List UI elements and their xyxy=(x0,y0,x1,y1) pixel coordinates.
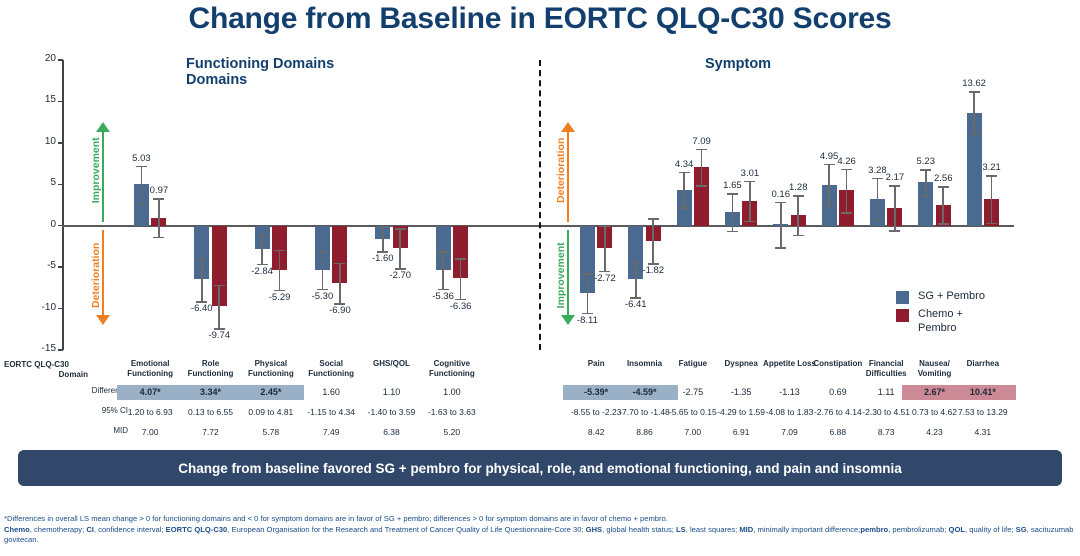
error-bar xyxy=(877,178,879,220)
arrow-label: Improvement xyxy=(555,228,567,323)
error-bar-cap xyxy=(727,193,738,195)
bar-value-label: -8.11 xyxy=(564,315,610,326)
y-tick-label: 20 xyxy=(24,53,56,64)
error-bar-cap xyxy=(196,259,207,261)
error-bar-cap xyxy=(986,175,997,177)
footnote-line-1: *Differences in overall LS mean change >… xyxy=(4,514,1076,525)
table-cell-difference: 3.34* xyxy=(178,385,244,400)
column-header-line2: Functioning xyxy=(415,369,489,379)
arrow-label: Deterioration xyxy=(90,228,102,323)
error-bar xyxy=(828,164,830,206)
bar-value-label: 5.23 xyxy=(903,156,949,167)
error-bar-cap xyxy=(969,135,980,137)
error-bar-cap xyxy=(455,258,466,260)
y-tick xyxy=(58,101,63,103)
bar-value-label: 13.62 xyxy=(951,78,997,89)
bar-value-label: -2.70 xyxy=(377,270,423,281)
column-header-line1: Cognitive xyxy=(415,359,489,369)
table-cell-mid: 4.31 xyxy=(946,426,1020,439)
error-bar-cap xyxy=(938,186,949,188)
error-bar-cap xyxy=(744,181,755,183)
table-cell-ci: 7.53 to 13.29 xyxy=(946,406,1020,419)
error-bar xyxy=(218,285,220,329)
data-table: EORTC QLQ-C30 Domain Difference 95% CI M… xyxy=(0,358,1080,442)
error-bar-cap xyxy=(599,226,610,228)
error-bar xyxy=(442,251,444,288)
table-cell-difference: 2.45* xyxy=(238,385,304,400)
bar-value-label: -6.90 xyxy=(317,305,363,316)
section-divider xyxy=(539,60,541,350)
table-cell-difference: 1.00 xyxy=(419,385,485,400)
page-title: Change from Baseline in EORTC QLQ-C30 Sc… xyxy=(0,2,1080,36)
arrow-stem xyxy=(567,230,569,316)
chart-plot-area: ImprovementDeteriorationDeteriorationImp… xyxy=(62,60,1014,350)
legend-item[interactable]: Chemo + Pembro xyxy=(896,308,992,335)
error-bar-cap xyxy=(872,220,883,222)
y-tick xyxy=(58,308,63,310)
bar-value-label: 0.97 xyxy=(136,185,182,196)
legend-swatch xyxy=(896,309,909,322)
error-bar xyxy=(780,202,782,248)
footnote-term: pembro xyxy=(860,525,888,534)
y-tick xyxy=(58,59,63,61)
footnote-text: , chemotherapy; xyxy=(30,525,87,534)
error-bar-cap xyxy=(889,230,900,232)
error-bar xyxy=(652,218,654,263)
error-bar-cap xyxy=(136,166,147,168)
error-bar-cap xyxy=(438,251,449,253)
error-bar-cap xyxy=(696,149,707,151)
error-bar xyxy=(846,169,848,213)
footnote-text: , pembrolizumab; xyxy=(888,525,948,534)
error-bar xyxy=(797,195,799,235)
column-header-line1: Diarrhea xyxy=(946,359,1020,369)
error-bar-cap xyxy=(727,231,738,233)
table-cell-ci: -1.63 to 3.63 xyxy=(415,406,489,419)
error-bar xyxy=(749,181,751,221)
error-bar-cap xyxy=(679,207,690,209)
error-bar xyxy=(894,185,896,230)
legend-swatch xyxy=(896,291,909,304)
error-bar-cap xyxy=(153,198,164,200)
error-bar-cap xyxy=(744,221,755,223)
bar-value-label: -1.82 xyxy=(630,265,676,276)
table-cell-mid: 5.20 xyxy=(415,426,489,439)
error-bar-cap xyxy=(214,285,225,287)
bar-value-label: 2.56 xyxy=(920,173,966,184)
table-column-header: CognitiveFunctioning xyxy=(415,359,489,379)
y-tick-label: -10 xyxy=(24,302,56,313)
error-bar-cap xyxy=(377,227,388,229)
bar-value-label: 7.09 xyxy=(679,136,725,147)
summary-banner: Change from baseline favored SG + pembro… xyxy=(18,450,1062,486)
bar-value-label: 5.03 xyxy=(118,153,164,164)
bar-value-label: -5.29 xyxy=(257,292,303,303)
footnote-term: EORTC QLQ-C30 xyxy=(166,525,228,534)
error-bar-cap xyxy=(696,185,707,187)
footnote-term: QOL xyxy=(949,525,965,534)
error-bar-cap xyxy=(920,196,931,198)
error-bar xyxy=(991,175,993,223)
footnote-term: MID xyxy=(739,525,753,534)
column-header-line2: Functioning xyxy=(294,369,368,379)
y-tick-label: 5 xyxy=(24,177,56,188)
error-bar-cap xyxy=(630,261,641,263)
error-bar-cap xyxy=(775,247,786,249)
error-bar-cap xyxy=(775,202,786,204)
footnote-text: , European Organisation for the Research… xyxy=(227,525,585,534)
y-tick xyxy=(58,266,63,268)
bar-value-label: 3.01 xyxy=(727,168,773,179)
error-bar-cap xyxy=(334,263,345,265)
error-bar-cap xyxy=(793,235,804,237)
error-bar xyxy=(261,235,263,264)
error-bar xyxy=(141,166,143,203)
error-bar xyxy=(701,149,703,185)
bar-value-label: -9.74 xyxy=(196,330,242,341)
legend-item[interactable]: SG + Pembro xyxy=(896,290,992,304)
error-bar xyxy=(382,227,384,252)
bar-value-label: -2.72 xyxy=(582,273,628,284)
table-cell-difference: 1.10 xyxy=(359,385,425,400)
legend-label: SG + Pembro xyxy=(918,290,985,304)
error-bar-cap xyxy=(317,251,328,253)
error-bar-cap xyxy=(153,237,164,239)
error-bar-cap xyxy=(395,228,406,230)
error-bar-cap xyxy=(257,235,268,237)
error-bar xyxy=(732,193,734,230)
error-bar xyxy=(973,91,975,135)
error-bar xyxy=(339,263,341,304)
footnote-text: , quality of life; xyxy=(965,525,1016,534)
table-cell-difference: 1.60 xyxy=(298,385,364,400)
error-bar xyxy=(201,259,203,301)
table-cell-difference: 4.07* xyxy=(117,385,183,400)
bar-value-label: 1.28 xyxy=(775,182,821,193)
arrow-stem xyxy=(102,230,104,316)
error-bar-cap xyxy=(824,206,835,208)
error-bar-cap xyxy=(793,195,804,197)
y-tick-label: 0 xyxy=(24,219,56,230)
bar-value-label: 4.26 xyxy=(824,156,870,167)
chart-legend: SG + PembroChemo + Pembro xyxy=(896,290,992,339)
arrow-stem xyxy=(567,131,569,221)
column-header-line2: Vomiting xyxy=(898,369,972,379)
y-tick-label: 15 xyxy=(24,94,56,105)
error-bar-cap xyxy=(679,172,690,174)
y-axis-line xyxy=(62,60,64,350)
footnote-term: GHS xyxy=(586,525,602,534)
error-bar xyxy=(399,228,401,268)
error-bar-cap xyxy=(274,250,285,252)
bar-value-label: 2.17 xyxy=(872,172,918,183)
table-corner-label-line1: EORTC QLQ-C30 xyxy=(4,360,88,369)
error-bar xyxy=(279,250,281,290)
footnote-text: , least squares; xyxy=(686,525,740,534)
table-corner-label-line2: Domain xyxy=(4,370,88,379)
y-tick xyxy=(58,184,63,186)
footnote-text: , global health status; xyxy=(602,525,676,534)
error-bar xyxy=(322,251,324,289)
y-tick xyxy=(58,349,63,351)
footnote-term: Chemo xyxy=(4,525,30,534)
error-bar-cap xyxy=(889,185,900,187)
y-tick xyxy=(58,142,63,144)
error-bar-cap xyxy=(841,212,852,214)
section-heading-functioning: Functioning Domains Domains xyxy=(186,56,334,88)
footnote-term: CI xyxy=(86,525,94,534)
arrow-label: Deterioration xyxy=(555,120,567,219)
bar-value-label: 3.21 xyxy=(969,162,1015,173)
table-cell-difference: 10.41* xyxy=(950,385,1016,400)
footnote-line-2: Chemo, chemotherapy; CI, confidence inte… xyxy=(4,525,1076,546)
bar-value-label: -6.41 xyxy=(613,299,659,310)
error-bar xyxy=(604,226,606,271)
error-bar-cap xyxy=(920,169,931,171)
error-bar-cap xyxy=(986,223,997,225)
error-bar-cap xyxy=(136,203,147,205)
arrow-stem xyxy=(102,131,104,221)
section-heading-symptom: Symptom xyxy=(705,56,771,72)
error-bar-cap xyxy=(841,169,852,171)
table-row-label-difference: Difference xyxy=(40,386,128,395)
footnote-text: , minimally important difference; xyxy=(753,525,860,534)
footnote-term: LS xyxy=(676,525,686,534)
table-column-header: Diarrhea xyxy=(946,359,1020,369)
error-bar-cap xyxy=(938,223,949,225)
y-tick-label: 10 xyxy=(24,136,56,147)
y-tick-label: -5 xyxy=(24,260,56,271)
error-bar xyxy=(460,258,462,299)
error-bar xyxy=(942,186,944,223)
bar-value-label: -6.36 xyxy=(438,301,484,312)
error-bar xyxy=(683,172,685,208)
error-bar-cap xyxy=(648,218,659,220)
footnote-term: SG xyxy=(1016,525,1027,534)
error-bar-cap xyxy=(969,91,980,93)
arrow-label: Improvement xyxy=(90,120,102,219)
error-bar xyxy=(158,198,160,237)
footnote-text: , confidence interval; xyxy=(94,525,166,534)
footnotes: *Differences in overall LS mean change >… xyxy=(4,514,1076,546)
y-tick-label: -15 xyxy=(24,343,56,354)
legend-label: Chemo + Pembro xyxy=(918,308,992,335)
